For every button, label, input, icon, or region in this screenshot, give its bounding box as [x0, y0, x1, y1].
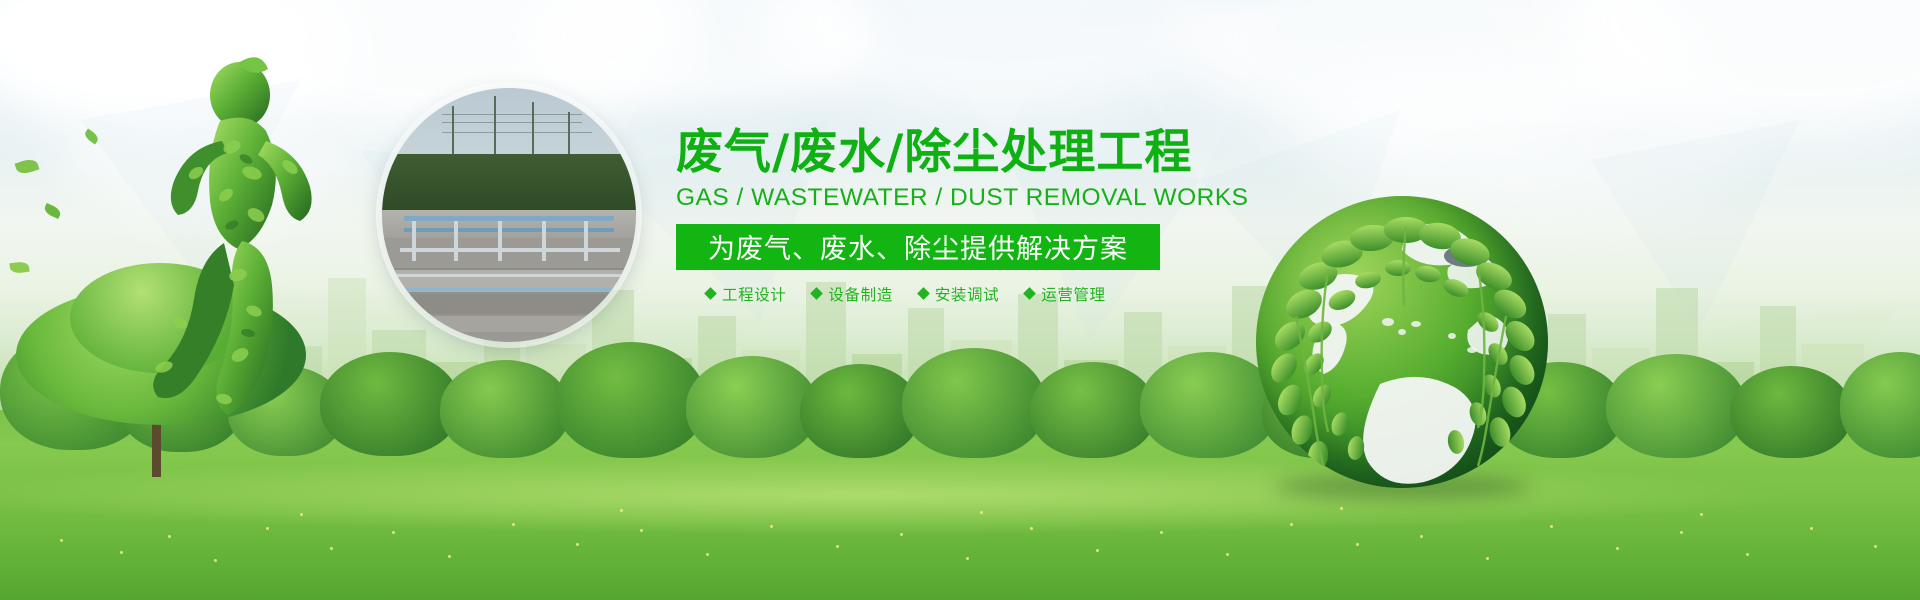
- diamond-bullet-icon: [917, 287, 930, 300]
- feature-label: 设备制造: [828, 283, 892, 305]
- feature-item-2[interactable]: 设备制造: [812, 283, 892, 305]
- leaf-man-figure: [120, 55, 380, 475]
- diamond-bullet-icon: [704, 287, 717, 300]
- wildflowers: [0, 450, 1920, 600]
- tagline-text: 为废气、废水、除尘提供解决方案: [708, 227, 1128, 266]
- page-subtitle: GAS / WASTEWATER / DUST REMOVAL WORKS: [676, 184, 1196, 212]
- hero-text-block: 废气/废水/除尘处理工程 GAS / WASTEWATER / DUST REM…: [676, 128, 1196, 305]
- green-globe-figure: [1256, 196, 1548, 488]
- diamond-bullet-icon: [1023, 287, 1036, 300]
- feature-list: 工程设计 设备制造 安装调试 运营管理: [676, 283, 1196, 305]
- feature-item-1[interactable]: 工程设计: [706, 283, 786, 305]
- feature-item-3[interactable]: 安装调试: [919, 283, 999, 305]
- feature-item-4[interactable]: 运营管理: [1025, 283, 1105, 305]
- diamond-bullet-icon: [811, 287, 824, 300]
- feature-label: 工程设计: [722, 283, 786, 305]
- feature-label: 安装调试: [935, 283, 999, 305]
- feature-label: 运营管理: [1041, 283, 1105, 305]
- globe-leaf-canopy: [1256, 196, 1548, 488]
- tagline-bar: 为废气、废水、除尘提供解决方案: [676, 224, 1160, 270]
- wastewater-plant-photo: [382, 88, 636, 342]
- hero-banner: 废气/废水/除尘处理工程 GAS / WASTEWATER / DUST REM…: [0, 0, 1920, 600]
- page-title: 废气/废水/除尘处理工程: [676, 128, 1196, 178]
